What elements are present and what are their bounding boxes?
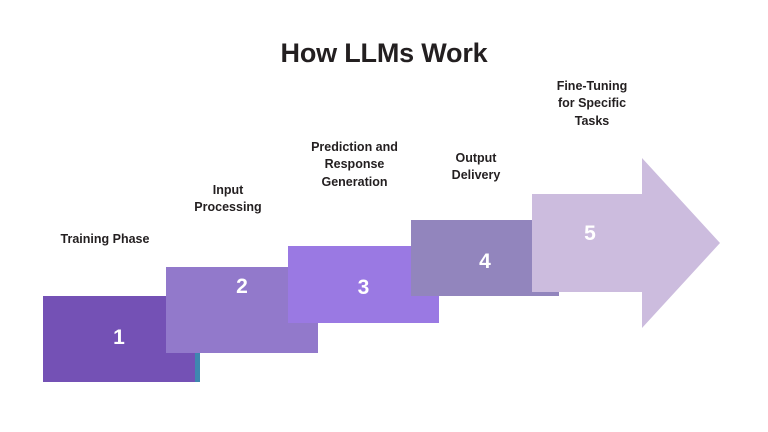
step-3-label: Prediction and Response Generation: [303, 139, 406, 191]
step-2-label: Input Processing: [192, 182, 264, 217]
page-title: How LLMs Work: [0, 38, 768, 69]
step-5-number: 5: [534, 222, 646, 246]
step-4-label: Output Delivery: [433, 150, 519, 185]
step-1-label: Training Phase: [55, 231, 155, 248]
step-5-label: Fine-Tuning for Specific Tasks: [548, 78, 636, 130]
